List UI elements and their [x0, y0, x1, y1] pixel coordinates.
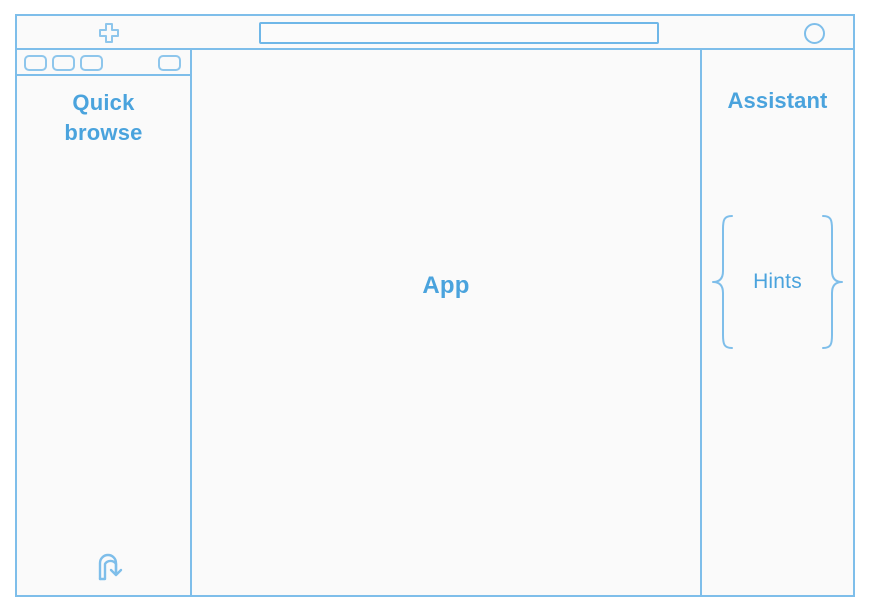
wireframe-root: Quick browse App Assistant — [0, 0, 879, 616]
quick-browse-sidebar: Quick browse — [17, 50, 192, 595]
app-label: App — [192, 272, 700, 300]
app-canvas: App — [192, 50, 702, 595]
sidebar-title-line-2: browse — [17, 118, 190, 148]
sidebar-chip-4[interactable] — [158, 55, 181, 71]
assistant-title: Assistant — [702, 88, 853, 114]
browser-top-bar — [17, 16, 853, 50]
sidebar-title-line-1: Quick — [17, 88, 190, 118]
sidebar-toolbar — [17, 50, 190, 76]
assistant-panel: Assistant Hints — [702, 50, 853, 595]
url-input[interactable] — [259, 22, 659, 44]
sidebar-chip-3[interactable] — [80, 55, 103, 71]
window-body: Quick browse App Assistant — [17, 50, 853, 595]
hints-block: Hints — [708, 213, 847, 351]
sidebar-chip-1[interactable] — [24, 55, 47, 71]
sidebar-chip-2[interactable] — [52, 55, 75, 71]
browser-window-frame: Quick browse App Assistant — [15, 14, 855, 597]
circle-avatar-icon[interactable] — [804, 23, 825, 44]
plus-icon[interactable] — [98, 22, 120, 44]
u-turn-arrow-icon[interactable] — [95, 551, 123, 581]
right-curly-brace-icon — [819, 213, 845, 351]
sidebar-title: Quick browse — [17, 88, 190, 147]
